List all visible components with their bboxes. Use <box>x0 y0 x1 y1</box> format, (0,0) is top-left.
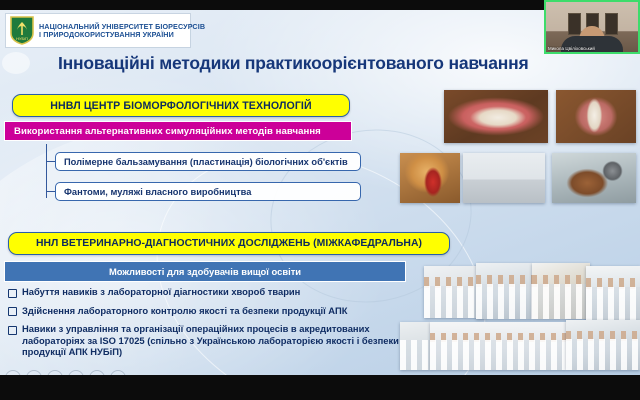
checkbox-square-icon <box>8 307 17 316</box>
outline-box-plastination: Полімерне бальзамування (пластинація) бі… <box>55 152 361 171</box>
checkbox-square-icon <box>8 289 17 298</box>
list-item-label: Навики з управління та організації опера… <box>22 323 406 358</box>
photo-lab-group-instruments <box>532 263 590 319</box>
connector-branch-2 <box>46 191 55 192</box>
photo-plastinated-skull <box>444 90 548 143</box>
photo-lab-bench-left <box>400 322 430 370</box>
photo-anatomy-table <box>463 153 545 203</box>
university-crest-icon: НУБіП <box>10 16 34 45</box>
webcam-video <box>546 2 638 52</box>
list-item: Здійснення лабораторного контролю якості… <box>8 305 406 317</box>
wall-picture-frame <box>605 13 618 35</box>
list-item: Набуття навиків з лабораторної діагности… <box>8 286 406 298</box>
list-item-label: Здійснення лабораторного контролю якості… <box>22 305 347 317</box>
photo-lab-student-microscope <box>476 263 532 319</box>
banner-veterinary-diagnostic-lab: ННЛ ВЕТЕРИНАРНО-ДІАГНОСТИЧНИХ ДОСЛІДЖЕНЬ… <box>8 232 450 255</box>
presentation-viewer: НУБіП НАЦІОНАЛЬНИЙ УНІВЕРСИТЕТ БІОРЕСУРС… <box>0 0 640 400</box>
outline-box-phantoms: Фантоми, муляжі власного виробництва <box>55 182 361 201</box>
svg-text:НУБіП: НУБіП <box>16 36 28 41</box>
letterbox-bottom <box>0 375 640 400</box>
photo-vessel-cast <box>400 153 460 203</box>
logo-line-2: І ПРИРОДОКОРИСТУВАННЯ УКРАЇНИ <box>39 31 205 39</box>
magenta-subtitle-bar: Використання альтернативних симуляційних… <box>4 121 352 141</box>
list-item: Навики з управління та організації опера… <box>8 323 406 358</box>
participant-name-label: Микола Цвіліховський <box>548 46 595 51</box>
connector-branch-1 <box>46 161 55 162</box>
banner-biomorphology-center: ННВЛ ЦЕНТР БІОМОРФОЛОГІЧНИХ ТЕХНОЛОГІЙ <box>12 94 350 117</box>
checkbox-square-icon <box>8 326 17 335</box>
connector-vertical <box>46 144 47 198</box>
list-item-label: Набуття навиків з лабораторної діагности… <box>22 286 300 298</box>
webcam-tile[interactable]: Микола Цвіліховський <box>544 0 640 54</box>
decor-bubble <box>2 52 30 74</box>
page-title: Інноваційні методики практикоорієнтовано… <box>58 50 578 76</box>
photo-lab-students-group <box>430 322 566 370</box>
slide-canvas: НУБіП НАЦІОНАЛЬНИЙ УНІВЕРСИТЕТ БІОРЕСУРС… <box>0 10 640 375</box>
university-logo-strip: НУБіП НАЦІОНАЛЬНИЙ УНІВЕРСИТЕТ БІОРЕСУРС… <box>6 14 190 47</box>
photo-plastinated-spine <box>556 90 636 143</box>
opportunities-list: Набуття навиків з лабораторної діагности… <box>8 286 406 365</box>
wall-picture-frame <box>568 13 581 35</box>
photo-lab-students-analyzer <box>586 266 640 320</box>
university-name: НАЦІОНАЛЬНИЙ УНІВЕРСИТЕТ БІОРЕСУРСІВ І П… <box>39 23 205 38</box>
photo-horse-head-phantom <box>552 153 636 203</box>
photo-lab-student-equipment <box>566 320 640 370</box>
opportunities-header: Можливості для здобувачів вищої освіти <box>4 261 406 282</box>
